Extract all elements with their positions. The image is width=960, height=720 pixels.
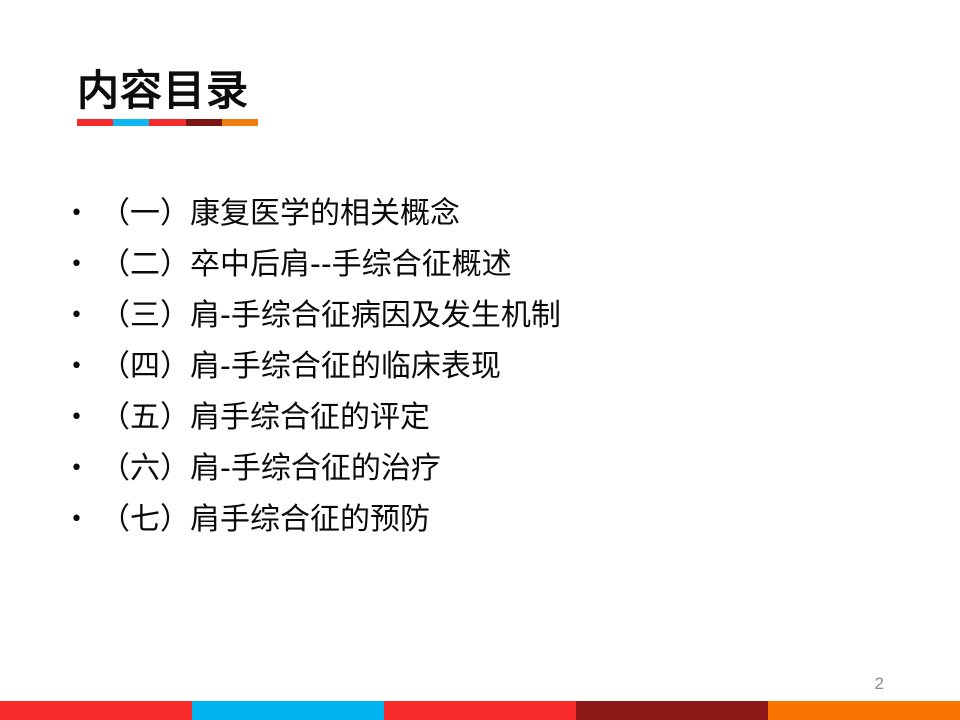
table-of-contents-list: • （一）康复医学的相关概念 • （二）卒中后肩--手综合征概述 • （三）肩-… xyxy=(70,188,890,545)
list-item-label: （五）肩手综合征的评定 xyxy=(100,392,430,443)
title-rule-segment-1 xyxy=(77,119,113,126)
list-item-label: （七）肩手综合征的预防 xyxy=(100,494,430,545)
bullet-icon: • xyxy=(70,188,100,239)
list-item[interactable]: • （五）肩手综合征的评定 xyxy=(70,392,890,443)
title-rule-segment-3 xyxy=(149,119,185,126)
bottom-color-bar xyxy=(0,701,960,720)
page-title: 内容目录 xyxy=(77,68,677,113)
bottom-bar-segment-2 xyxy=(192,701,384,720)
bullet-icon: • xyxy=(70,239,100,290)
bullet-icon: • xyxy=(70,392,100,443)
list-item-label: （三）肩-手综合征病因及发生机制 xyxy=(100,290,561,341)
bottom-bar-segment-3 xyxy=(384,701,576,720)
title-rule-segment-4 xyxy=(186,119,222,126)
bullet-icon: • xyxy=(70,494,100,545)
bullet-icon: • xyxy=(70,443,100,494)
list-item-label: （六）肩-手综合征的治疗 xyxy=(100,443,441,494)
bullet-icon: • xyxy=(70,290,100,341)
bottom-bar-segment-4 xyxy=(576,701,768,720)
slide-canvas: 内容目录 • （一）康复医学的相关概念 • （二）卒中后肩--手综合征概述 • … xyxy=(0,0,960,720)
list-item-label: （二）卒中后肩--手综合征概述 xyxy=(100,239,512,290)
title-underline-rule xyxy=(77,119,258,126)
list-item-label: （四）肩-手综合征的临床表现 xyxy=(100,341,501,392)
list-item[interactable]: • （六）肩-手综合征的治疗 xyxy=(70,443,890,494)
bottom-bar-segment-5 xyxy=(768,701,960,720)
title-rule-segment-2 xyxy=(113,119,149,126)
list-item-label: （一）康复医学的相关概念 xyxy=(100,188,460,239)
list-item[interactable]: • （三）肩-手综合征病因及发生机制 xyxy=(70,290,890,341)
bottom-bar-segment-1 xyxy=(0,701,192,720)
list-item[interactable]: • （七）肩手综合征的预防 xyxy=(70,494,890,545)
list-item[interactable]: • （一）康复医学的相关概念 xyxy=(70,188,890,239)
list-item[interactable]: • （四）肩-手综合征的临床表现 xyxy=(70,341,890,392)
list-item[interactable]: • （二）卒中后肩--手综合征概述 xyxy=(70,239,890,290)
bullet-icon: • xyxy=(70,341,100,392)
page-number: 2 xyxy=(875,675,884,692)
title-rule-segment-5 xyxy=(222,119,258,126)
title-block: 内容目录 xyxy=(77,68,677,126)
